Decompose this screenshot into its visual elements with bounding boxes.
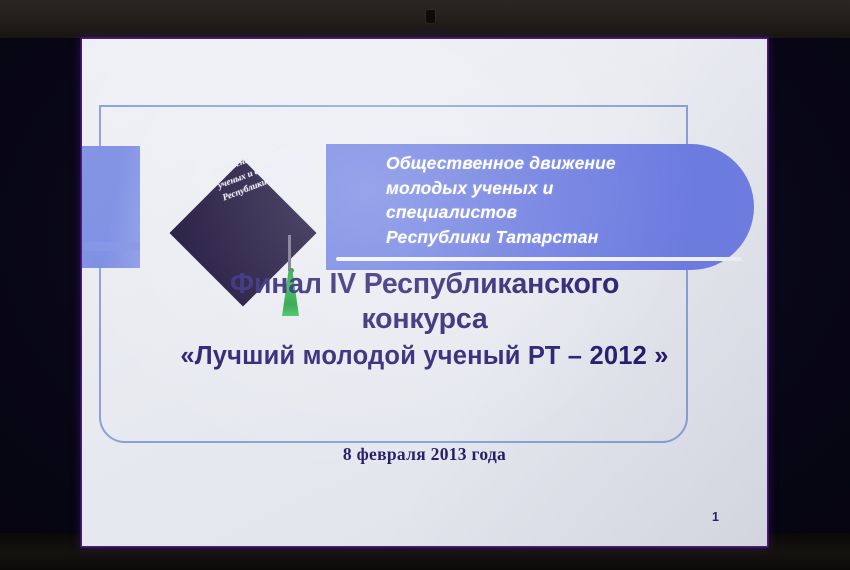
main-title-line-2: конкурса — [142, 302, 707, 337]
slide-date: 8 февраля 2013 года — [142, 444, 707, 465]
slide-number: 1 — [712, 510, 719, 524]
header-banner-underline — [336, 257, 742, 261]
ceiling-fixture — [426, 10, 435, 23]
organization-title-line-1: Общественное движение — [386, 151, 716, 176]
presentation-slide[interactable]: Общественное движение молодых ученых и с… — [82, 39, 767, 546]
main-title-line-1: Финал IV Республиканского — [142, 267, 707, 302]
organization-title: Общественное движение молодых ученых и с… — [386, 151, 716, 249]
main-title-line-3: «Лучший молодой ученый РТ – 2012 » — [142, 339, 707, 374]
tassel-cord — [288, 235, 291, 271]
organization-title-line-3: специалистов — [386, 200, 716, 225]
organization-title-line-4: Республики Татарстан — [386, 225, 716, 250]
slide-main-title: Финал IV Республиканского конкурса «Лучш… — [142, 267, 707, 374]
ceiling-band — [0, 0, 850, 38]
left-accent-bar — [82, 242, 140, 251]
organization-title-line-2: молодых ученых и — [386, 176, 716, 201]
projection-scene: Общественное движение молодых ученых и с… — [0, 0, 850, 570]
